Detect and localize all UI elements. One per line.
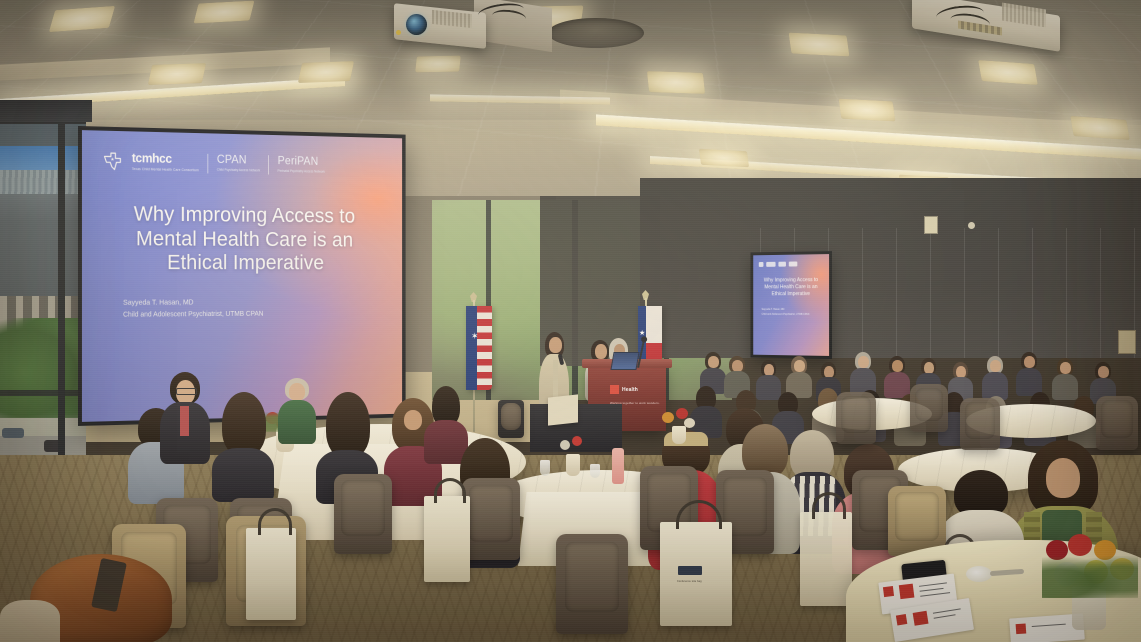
podium-laptop [610, 352, 639, 370]
tote-handle [258, 508, 292, 535]
tote-handle [434, 478, 466, 503]
window-trees [0, 318, 86, 428]
window-header-left [0, 100, 92, 122]
foliage [1042, 550, 1138, 598]
tote-bag [424, 496, 470, 582]
peripan-wordmark [789, 262, 798, 267]
flyer-logo-mark [883, 586, 894, 597]
secondary-slide-byline: Sayyeda T. Hasan, MD Child and Adolescen… [759, 307, 823, 317]
flyer-text-line [934, 614, 956, 618]
projector-lens-icon [406, 14, 427, 35]
window-car [2, 428, 24, 438]
podium-brand-text: Health [622, 387, 638, 393]
tcmhcc-wordmark: tcmhcc Texas Child Mental Health Care Co… [132, 152, 199, 172]
hair-long [222, 392, 266, 456]
centerpiece-center [556, 432, 590, 476]
window-transom [0, 390, 86, 396]
slide-byline: Sayyeda T. Hasan, MD Child and Adolescen… [102, 295, 385, 323]
flag-united-states: ✶ [466, 306, 492, 390]
head [794, 360, 805, 372]
head [1046, 458, 1080, 498]
slide-logo-row: tcmhcc Texas Child Mental Health Care Co… [102, 147, 385, 182]
ceiling-vent [548, 18, 644, 48]
banquet-chair [334, 474, 392, 554]
logo-divider [207, 154, 208, 174]
flyer-text-line [933, 608, 961, 613]
flyer-accent-block [913, 611, 929, 626]
head [892, 360, 903, 372]
slide-presenter-role: Child and Adolescent Psychiatrist, UTMB … [123, 308, 384, 323]
tcmhcc-wordmark [766, 262, 775, 267]
flag-stars-icon: ✶ [471, 332, 479, 341]
head [858, 356, 869, 368]
audience-member [982, 356, 1008, 400]
head [1060, 362, 1071, 374]
banquet-chair [836, 392, 876, 444]
water-bottle [612, 448, 624, 484]
wall-speaker-icon [968, 222, 975, 229]
cpan-wordmark [778, 262, 786, 267]
slide-title: Why Improving Access to Mental Health Ca… [102, 202, 385, 275]
easel-sign [548, 394, 578, 425]
tote-bag [800, 512, 852, 606]
vase [566, 454, 580, 476]
ceiling-light-panel [298, 61, 354, 83]
peripan-subtitle: Perinatal Psychiatry Access Network [278, 169, 325, 174]
torso [212, 448, 274, 502]
projection-screen: tcmhcc Texas Child Mental Health Care Co… [78, 126, 406, 426]
flower-red [676, 408, 688, 419]
wall-back-right [640, 178, 1141, 358]
flower-orange [662, 412, 674, 423]
slide-presenter-name: Sayyeda T. Hasan, MD [123, 295, 384, 309]
speaker-scarf [553, 360, 558, 400]
eyeglasses-icon [176, 388, 197, 395]
slide-title-line-1: Why Improving Access to [102, 202, 385, 229]
secondary-display-surface: Why Improving Access to Mental Health Ca… [753, 254, 829, 356]
ceiling-light-panel [839, 99, 896, 122]
tote-bag: Conference tote bag [660, 522, 732, 626]
secondary-title-line-2: Mental Health Care is an [759, 284, 823, 291]
cpan-subtitle: Child Psychiatry Access Network [217, 168, 260, 173]
water-glass [966, 566, 992, 582]
projection-screen-surface: tcmhcc Texas Child Mental Health Care Co… [82, 130, 402, 422]
speaker-head [549, 337, 562, 353]
ceiling-light-panel [978, 60, 1038, 85]
secondary-slide-content: Why Improving Access to Mental Health Ca… [753, 254, 829, 356]
vase [672, 426, 686, 444]
logo-divider [268, 155, 269, 174]
secondary-display: Why Improving Access to Mental Health Ca… [750, 251, 832, 359]
wall-poster [1118, 330, 1136, 354]
secondary-presenter-role: Child and Adolescent Psychiatrist, UTMB … [762, 312, 824, 317]
ceiling-light-panel [789, 32, 850, 56]
banquet-chair [462, 478, 520, 560]
tote-handle [812, 492, 846, 519]
peripan-name: PeriPAN [278, 156, 325, 168]
torso [278, 400, 316, 444]
tcmhcc-name: tcmhcc [132, 152, 199, 166]
flyer-text-line [919, 582, 947, 586]
texas-outline-icon [102, 151, 123, 173]
projector-indicator-led [396, 30, 401, 35]
conference-room-photo: tcmhcc Texas Child Mental Health Care Co… [0, 0, 1141, 642]
flyer-logo-mark [896, 614, 907, 625]
foreground-chair-back [0, 600, 60, 642]
head [1024, 356, 1035, 368]
secondary-title-line-3: Ethical Imperative [759, 291, 823, 298]
head [1098, 366, 1109, 378]
stage-chair [498, 400, 524, 438]
tote-bag [246, 528, 296, 620]
banquet-chair [960, 398, 1000, 450]
ceiling-light-panel [699, 149, 749, 168]
water-glass [540, 460, 550, 476]
slide-content: tcmhcc Texas Child Mental Health Care Co… [82, 130, 402, 422]
banquet-chair [910, 384, 948, 432]
slide-title-line-3: Ethical Imperative [102, 251, 385, 275]
flower-red [572, 436, 582, 446]
hair-long [326, 392, 370, 458]
cpan-wordmark: CPAN Child Psychiatry Access Network [217, 155, 260, 174]
head [990, 360, 1001, 372]
centerpiece-stage-side [660, 404, 696, 444]
guest-seated-glasses [160, 372, 210, 464]
texas-outline-icon [759, 262, 764, 267]
ceiling-light-panel [49, 6, 115, 32]
utmb-logo-mark [610, 385, 619, 394]
ceiling-projector-left [366, 2, 546, 60]
flyer-accent-block [899, 584, 915, 600]
guest-seated [278, 378, 316, 444]
peripan-wordmark: PeriPAN Perinatal Psychiatry Access Netw… [278, 156, 325, 174]
flower-white [684, 418, 695, 428]
audience-member [1016, 352, 1042, 396]
banquet-chair [556, 534, 628, 634]
ceiling-projector-right [906, 0, 1066, 54]
flyer-text-line [920, 588, 944, 592]
window-building-roof [0, 170, 86, 194]
scarf [180, 406, 189, 436]
water-glass [590, 464, 600, 478]
head [404, 410, 422, 430]
ceiling-light-panel [647, 71, 705, 94]
guest-seated [212, 392, 274, 502]
flyer-logo-mark [1016, 623, 1027, 634]
banquet-chair [1096, 396, 1138, 450]
flyer-text-line [920, 592, 950, 597]
head [289, 383, 305, 401]
centerpiece-foreground [1042, 534, 1138, 630]
wall-sign [924, 216, 938, 234]
ceiling-light-panel [194, 1, 255, 24]
ceiling-light-panel [1070, 116, 1130, 140]
tote-label: Conference tote bag [677, 580, 702, 583]
slide-title-line-2: Mental Health Care is an [102, 227, 385, 253]
podium-logo: Health [610, 385, 638, 394]
cpan-name: CPAN [217, 155, 260, 167]
ceiling-light-panel [148, 63, 206, 85]
audience-member [884, 356, 910, 398]
head [708, 356, 719, 368]
tcmhcc-subtitle: Texas Child Mental Health Care Consortiu… [132, 167, 199, 173]
secondary-slide-title: Why Improving Access to Mental Health Ca… [759, 277, 823, 298]
flower-white [560, 440, 570, 450]
tote-logo-icon [678, 566, 702, 575]
secondary-slide-logo-row [759, 261, 823, 267]
